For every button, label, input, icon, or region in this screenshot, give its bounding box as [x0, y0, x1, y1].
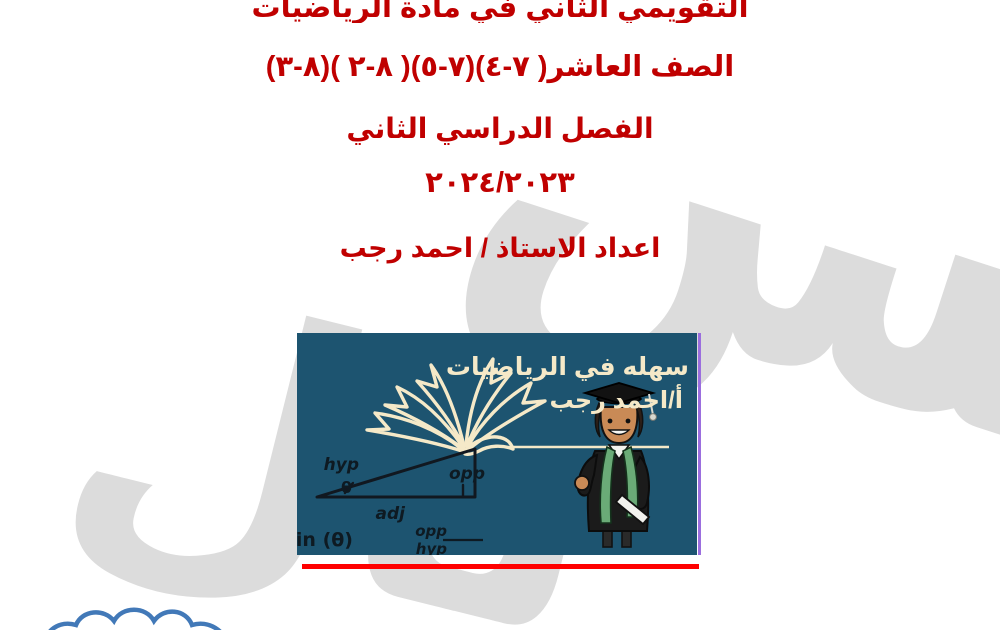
title-block: التقويمي الثاني في مادة الرياضيات الصف ا… — [0, 0, 1000, 265]
label-hypotenuse: hyp — [324, 455, 359, 475]
mortarboard-tassel — [650, 414, 657, 421]
formula-numerator: opp — [415, 522, 447, 540]
banner-author: أ/احمد رجب — [549, 389, 683, 413]
banner-underline-rule — [302, 564, 699, 569]
cloud-decoration-icon — [38, 594, 288, 630]
label-adjacent: adj — [376, 504, 407, 524]
page-title-term: الفصل الدراسي الثاني — [0, 112, 1000, 146]
graduate-raised-hand — [575, 476, 589, 490]
page-root: الس بال التقويمي الثاني في مادة الرياضيا… — [0, 0, 1000, 630]
banner-headline: سهله في الرياضيات — [446, 355, 689, 380]
formula-denominator: hyp — [416, 540, 447, 555]
formula-function: sin (θ) = — [297, 529, 353, 551]
label-opposite: opp — [449, 464, 485, 484]
banner-figure: hyp opp adj θ sin (θ) = opp hyp — [297, 333, 697, 555]
banner-right-rule — [698, 333, 701, 555]
page-title-academic-year: ٢٠٢٤/٢٠٢٣ — [0, 166, 1000, 200]
banner-card: hyp opp adj θ sin (θ) = opp hyp — [297, 333, 697, 555]
page-title-grade-lessons: الصف العاشر( ٧-٤)(٧-٥)( ٨-٢ )(٨-٣) — [0, 50, 1000, 84]
page-title-author-credit: اعداد الاستاذ / احمد رجب — [0, 231, 1000, 265]
page-title-subject: التقويمي الثاني في مادة الرياضيات — [0, 0, 1000, 23]
label-angle-theta: θ — [341, 478, 352, 497]
